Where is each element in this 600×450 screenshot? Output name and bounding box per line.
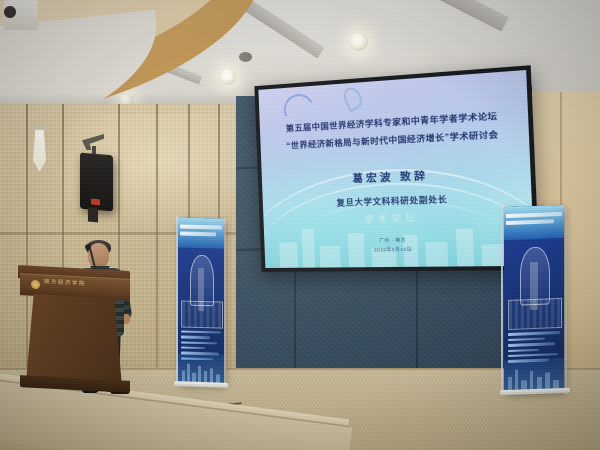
banner-subhead-text-line <box>506 220 553 226</box>
banner-text-line <box>508 348 539 352</box>
banner-text-line <box>181 341 217 344</box>
banner-text-line <box>508 342 554 346</box>
smoke-detector-icon <box>239 52 252 62</box>
banner-text-line <box>181 330 221 333</box>
projector-lens-icon <box>4 6 16 18</box>
banner-text-line <box>508 331 560 335</box>
conference-hall-photo: 第五届中国世界经济学科专家和中青年学者学术论坛 “世界经济新格局与新时代中国经济… <box>0 0 600 450</box>
banner-headline-left <box>180 224 222 239</box>
banner-building-graphic <box>181 300 223 328</box>
recessed-downlight-icon <box>220 69 236 85</box>
banner-headline-right <box>506 212 561 228</box>
banner-pole-right <box>565 208 567 394</box>
banner-headline-text-line <box>506 212 561 218</box>
banner-building-graphic <box>508 298 563 330</box>
wall-panel-joint <box>156 104 158 404</box>
ceiling-projector-icon <box>4 0 38 30</box>
roll-up-banner-right <box>504 205 564 393</box>
roll-up-banner-left <box>178 217 224 384</box>
banner-headline-text-line <box>180 224 222 229</box>
projection-screen: 第五届中国世界经济学科专家和中青年学者学术论坛 “世界经济新格局与新时代中国经济… <box>254 65 539 272</box>
banner-pole-right <box>501 203 503 393</box>
banner-subhead-text-line <box>180 231 216 236</box>
wall-panel-joint <box>26 104 28 404</box>
podium-body <box>26 293 122 386</box>
banner-text-line <box>181 336 209 339</box>
jbl-loudspeaker-icon <box>80 153 113 212</box>
banner-text-line <box>181 346 205 349</box>
speaker-shadow <box>88 207 98 222</box>
recessed-downlight-icon <box>349 32 368 51</box>
banner-skyline <box>178 353 224 384</box>
leaf-swirl-logo-icon <box>340 84 365 112</box>
banner-text-line <box>508 353 558 357</box>
gold-crest-emblem-icon <box>31 280 40 289</box>
banner-pole-left <box>224 219 226 385</box>
projected-slide: 第五届中国世界经济学科专家和中青年学者学术论坛 “世界经济新格局与新时代中国经济… <box>258 70 534 268</box>
banner-text-line <box>508 337 545 341</box>
